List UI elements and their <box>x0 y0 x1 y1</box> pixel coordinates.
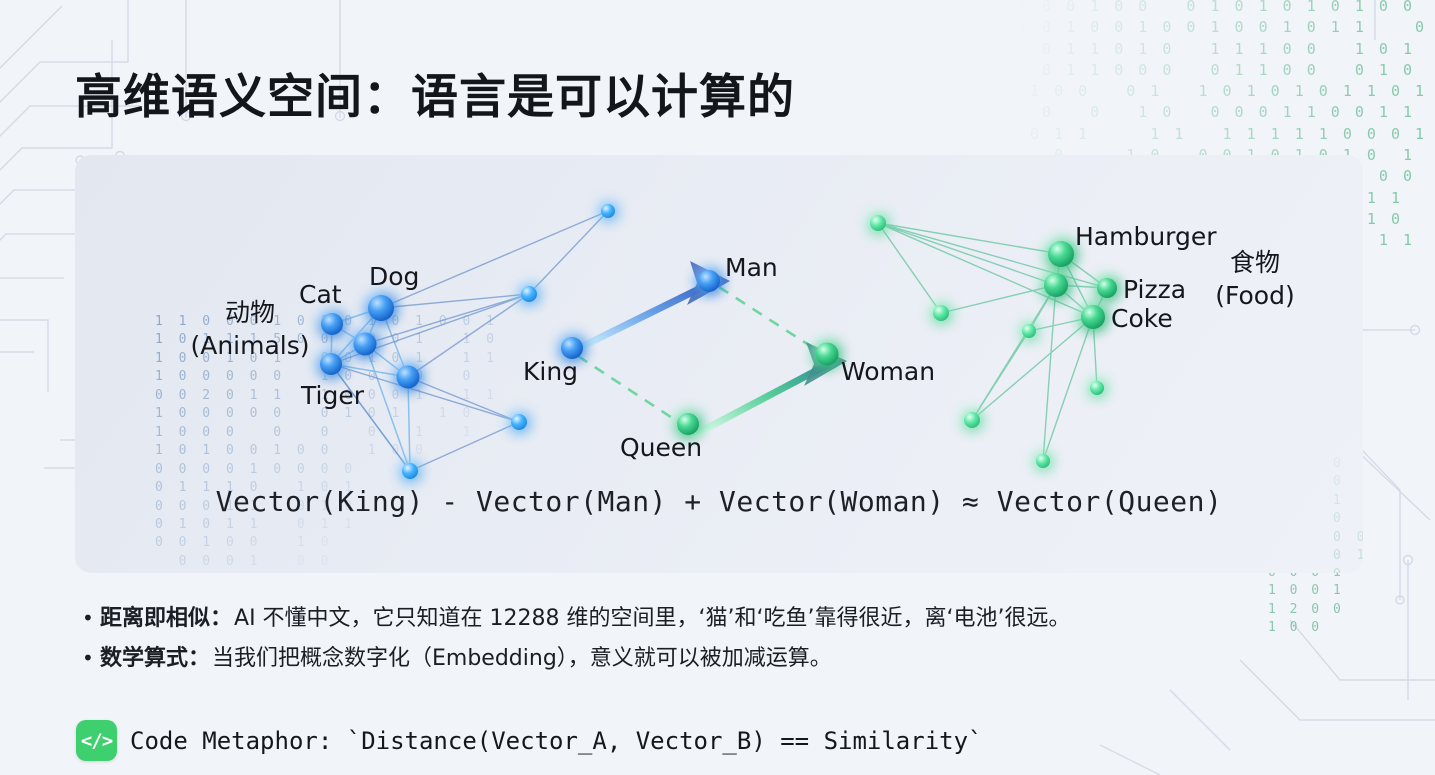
code-icon: </> <box>76 720 117 761</box>
bullet-item: • 距离即相似：AI 不懂中文，它只知道在 12288 维的空间里，‘猫’和‘吃… <box>82 602 1382 636</box>
analogy-dashed-edges <box>578 287 832 429</box>
node-label-queen: Queen <box>620 433 702 462</box>
node-label-king: King <box>523 357 578 386</box>
bullet-marker: • <box>82 643 100 674</box>
bullet-text: 当我们把概念数字化（Embedding），意义就可以被加减运算。 <box>212 646 832 671</box>
group-label-animals-cn: 动物 <box>185 297 315 330</box>
node-label-hamburger: Hamburger <box>1075 222 1217 251</box>
code-metaphor-text: Code Metaphor: `Distance(Vector_A, Vecto… <box>130 727 983 755</box>
group-label-animals-en: (Animals) <box>185 330 315 363</box>
semantic-space-diagram: 1 1 0 0 0 1 0 1 0 1 0 1 0 0 1 1 0 1 1 1 … <box>75 155 1363 573</box>
group-label-food: 食物 (Food) <box>1195 247 1315 312</box>
food-node-group <box>1044 241 1117 329</box>
group-label-animals: 动物 (Animals) <box>185 297 315 362</box>
node-label-tiger: Tiger <box>301 381 364 410</box>
node-label-woman: Woman <box>841 357 935 386</box>
bullet-marker: • <box>82 603 100 634</box>
node-label-cat: Cat <box>299 280 342 309</box>
animal-outer-node-group <box>402 204 615 479</box>
group-label-food-cn: 食物 <box>1195 247 1315 280</box>
bullet-list: • 距离即相似：AI 不懂中文，它只知道在 12288 维的空间里，‘猫’和‘吃… <box>82 602 1382 682</box>
node-label-coke: Coke <box>1111 304 1173 333</box>
node-label-man: Man <box>725 253 778 282</box>
group-label-food-en: (Food) <box>1195 280 1315 313</box>
bullet-item: • 数学算式：当我们把概念数字化（Embedding），意义就可以被加减运算。 <box>82 642 1382 676</box>
bullet-text: AI 不懂中文，它只知道在 12288 维的空间里，‘猫’和‘吃鱼’靠得很近，离… <box>234 606 1070 631</box>
node-label-pizza: Pizza <box>1123 275 1186 304</box>
bullet-lead: 距离即相似： <box>100 606 232 631</box>
vector-formula: Vector(King) - Vector(Man) + Vector(Woma… <box>75 485 1363 518</box>
code-metaphor-row: </> Code Metaphor: `Distance(Vector_A, V… <box>76 720 983 761</box>
node-label-dog: Dog <box>369 262 419 291</box>
page-title: 高维语义空间：语言是可以计算的 <box>75 58 795 127</box>
animal-node-group <box>320 295 420 389</box>
bullet-lead: 数学算式： <box>100 646 210 671</box>
